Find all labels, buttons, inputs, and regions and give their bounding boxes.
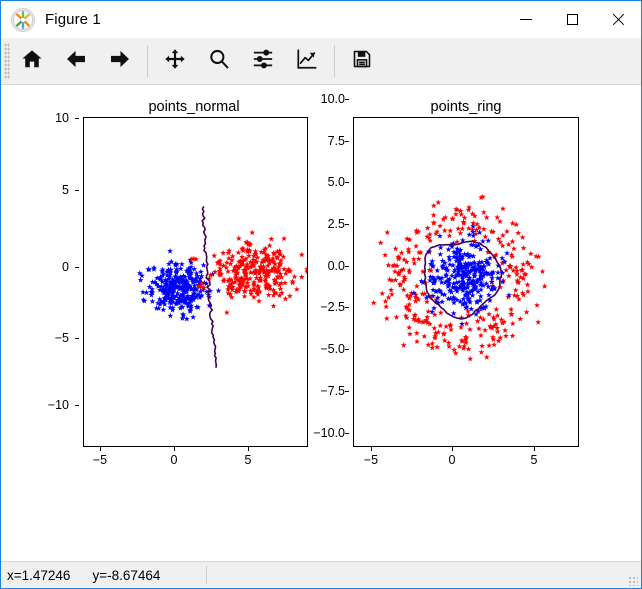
move-arrows-icon <box>164 48 186 75</box>
subplot-title-points-normal: points_normal <box>148 99 239 115</box>
magnifier-icon <box>208 48 230 75</box>
ytick-label: 5.0 <box>301 175 345 189</box>
figure-canvas[interactable]: points_normal 10 5 0 −5 −10 −5 0 5 point… <box>1 85 641 561</box>
xtick-label: 5 <box>531 453 538 467</box>
home-icon <box>21 48 43 75</box>
xtick-mark <box>452 447 453 451</box>
forward-button[interactable] <box>98 41 142 81</box>
ytick-label: −2.5 <box>301 300 345 314</box>
points-normal-plot-area <box>84 118 308 447</box>
ytick-mark <box>345 391 349 392</box>
ytick-label: −10.0 <box>301 426 345 440</box>
ytick-mark <box>75 267 79 268</box>
maximize-icon <box>567 14 578 25</box>
close-button[interactable] <box>595 1 641 38</box>
xtick-label: −5 <box>93 453 107 467</box>
xtick-label: 0 <box>171 453 178 467</box>
toolbar-drag-handle[interactable] <box>4 43 10 79</box>
xtick-mark <box>534 447 535 451</box>
ytick-label: −10 <box>29 398 69 412</box>
minimize-icon <box>520 19 532 20</box>
ytick-mark <box>75 190 79 191</box>
figure-window: Figure 1 <box>0 0 642 589</box>
navigation-toolbar <box>1 38 641 85</box>
subplot-title-points-ring: points_ring <box>431 99 502 115</box>
points-ring-plot-area <box>354 118 579 447</box>
ytick-label: 5 <box>29 183 69 197</box>
ytick-mark <box>345 141 349 142</box>
xtick-label: 0 <box>449 453 456 467</box>
ytick-label: 0.0 <box>301 259 345 273</box>
ytick-mark <box>345 224 349 225</box>
ytick-mark <box>345 182 349 183</box>
minimize-button[interactable] <box>503 1 549 38</box>
arrow-left-icon <box>65 48 87 75</box>
ytick-label: 10.0 <box>301 92 345 106</box>
pan-button[interactable] <box>153 41 197 81</box>
xtick-label: 5 <box>245 453 252 467</box>
ytick-label: 0 <box>29 260 69 274</box>
window-title: Figure 1 <box>45 11 101 28</box>
ytick-label: 2.5 <box>301 217 345 231</box>
xtick-mark <box>371 447 372 451</box>
xtick-label: −5 <box>364 453 378 467</box>
ytick-label: 7.5 <box>301 134 345 148</box>
back-button[interactable] <box>54 41 98 81</box>
zoom-button[interactable] <box>197 41 241 81</box>
ytick-mark <box>345 99 349 100</box>
chart-line-icon <box>296 48 318 75</box>
coordinate-readout-y: y=-8.67464 <box>92 568 160 583</box>
ytick-mark <box>345 349 349 350</box>
sliders-icon <box>252 48 274 75</box>
home-button[interactable] <box>10 41 54 81</box>
ytick-mark <box>75 338 79 339</box>
ytick-label: −5.0 <box>301 342 345 356</box>
subplot-axes-points-ring[interactable] <box>353 117 579 447</box>
xtick-mark <box>174 447 175 451</box>
xtick-mark <box>248 447 249 451</box>
ytick-mark <box>75 118 79 119</box>
ytick-label: −5 <box>29 331 69 345</box>
coordinate-readout-x: x=1.47246 <box>7 568 70 583</box>
status-bar: x=1.47246 y=-8.67464 <box>1 561 641 588</box>
ytick-label: −7.5 <box>301 384 345 398</box>
ytick-mark <box>345 266 349 267</box>
ytick-mark <box>345 307 349 308</box>
ytick-mark <box>345 433 349 434</box>
configure-subplots-button[interactable] <box>241 41 285 81</box>
edit-axis-button[interactable] <box>285 41 329 81</box>
status-separator <box>206 566 207 584</box>
toolbar-separator <box>147 45 148 77</box>
maximize-button[interactable] <box>549 1 595 38</box>
arrow-right-icon <box>109 48 131 75</box>
title-bar: Figure 1 <box>1 1 641 38</box>
close-icon <box>612 13 625 26</box>
ytick-label: 10 <box>29 111 69 125</box>
resize-grip[interactable] <box>628 576 638 586</box>
window-controls <box>503 1 641 38</box>
xtick-mark <box>100 447 101 451</box>
ytick-mark <box>75 405 79 406</box>
subplot-axes-points-normal[interactable] <box>83 117 308 447</box>
floppy-disk-icon <box>352 49 372 74</box>
matplotlib-logo-icon <box>11 8 35 32</box>
save-button[interactable] <box>340 41 384 81</box>
toolbar-separator <box>334 45 335 77</box>
